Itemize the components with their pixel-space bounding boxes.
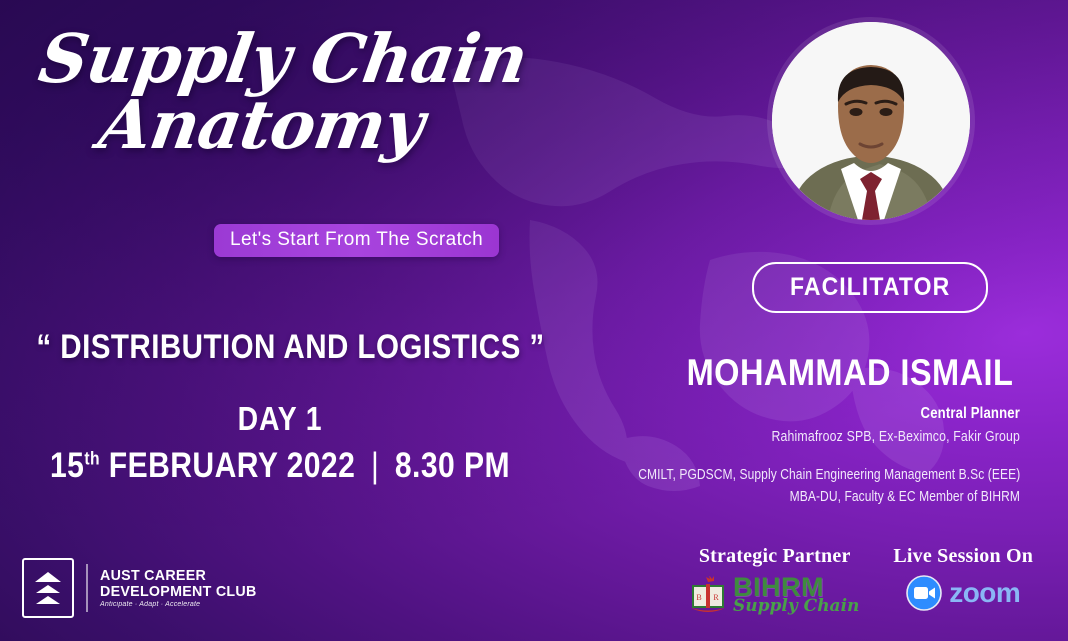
organizer-line-2: DEVELOPMENT CLUB <box>100 584 257 600</box>
facilitator-role: Central Planner <box>708 405 1020 423</box>
svg-text:B: B <box>696 593 701 602</box>
facilitator-badge-label: FACILITATOR <box>790 273 950 302</box>
live-session-block: Live Session On zoom <box>893 545 1033 614</box>
chevron-up-icon-top <box>35 572 61 582</box>
zoom-wordmark: zoom <box>949 577 1020 609</box>
book-emblem-icon: B R <box>690 576 726 614</box>
facilitator-name: MOHAMMAD ISMAIL <box>665 352 1035 394</box>
bihrm-text: BIHRM Supply Chain <box>733 575 859 614</box>
tagline-badge: Let's Start From The Scratch <box>214 224 499 257</box>
live-session-heading: Live Session On <box>893 545 1033 568</box>
session-time: 8.30 PM <box>395 446 510 485</box>
datetime-separator: | <box>364 446 386 486</box>
strategic-partner-heading: Strategic Partner <box>699 545 851 568</box>
chevron-up-icon-bottom <box>36 596 60 604</box>
date-day: 15 <box>50 446 84 485</box>
chevron-up-icon-mid <box>36 585 60 593</box>
partners-row: Strategic Partner B R BIHRM Supply Chain <box>690 545 1060 614</box>
facilitator-credentials-1: CMILT, PGDSCM, Supply Chain Engineering … <box>638 467 1020 483</box>
facilitator-credentials-2: MBA-DU, Faculty & EC Member of BIHRM <box>638 489 1020 505</box>
logo-divider <box>86 564 88 612</box>
facilitator-organizations: Rahimafrooz SPB, Ex-Beximco, Fakir Group <box>692 428 1020 445</box>
organizer-text: AUST CAREER DEVELOPMENT CLUB Anticipate … <box>100 568 265 608</box>
zoom-camera-icon <box>906 575 942 611</box>
date-month-year: FEBRUARY 2022 <box>109 446 355 485</box>
portrait-illustration <box>772 22 970 220</box>
facilitator-avatar <box>772 22 970 220</box>
facilitator-badge: FACILITATOR <box>752 262 988 313</box>
bihrm-subtitle: Supply Chain <box>733 599 859 615</box>
bihrm-logo: B R BIHRM Supply Chain <box>690 575 859 614</box>
date-suffix: th <box>84 448 100 468</box>
poster-title: Supply Chain Anatomy <box>22 28 542 155</box>
organizer-logo: AUST CAREER DEVELOPMENT CLUB Anticipate … <box>22 558 265 618</box>
session-datetime: 15th FEBRUARY 2022 | 8.30 PM <box>39 446 521 486</box>
session-day: DAY 1 <box>39 400 521 438</box>
event-poster: Supply Chain Anatomy Let's Start From Th… <box>0 0 1068 641</box>
session-topic: “ DISTRIBUTION AND LOGISTICS ” <box>36 328 523 367</box>
title-line-1: Supply Chain <box>17 28 547 90</box>
title-line-2: Anatomy <box>17 94 547 156</box>
organizer-tagline: Anticipate · Adapt · Accelerate <box>100 601 265 608</box>
svg-text:R: R <box>713 593 719 602</box>
strategic-partner-block: Strategic Partner B R BIHRM Supply Chain <box>690 545 859 614</box>
zoom-logo: zoom <box>906 575 1020 611</box>
chevron-logo-icon <box>22 558 74 618</box>
organizer-line-1: AUST CAREER <box>100 568 257 584</box>
